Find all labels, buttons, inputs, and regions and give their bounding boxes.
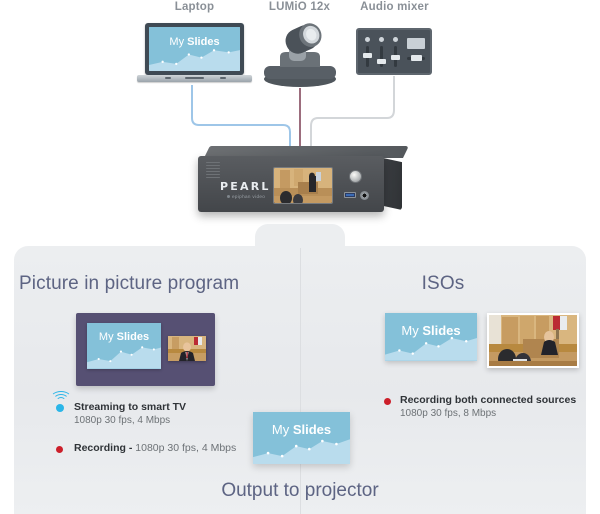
slides-chart: [253, 434, 350, 464]
recording-output-title: Recording - 1080p 30 fps, 4 Mbps: [74, 442, 236, 454]
pip-inset-camera: [168, 336, 206, 361]
streaming-output-row: Streaming to smart TV 1080p 30 fps, 4 Mb…: [52, 400, 282, 434]
pearl-side-surface: [383, 158, 402, 210]
pip-program-preview: My Slides: [76, 313, 215, 386]
laptop-lid: My Slides: [145, 23, 244, 75]
panel-divider: [300, 248, 301, 514]
recording-output-label: Recording -: [74, 442, 132, 454]
iso-recording-detail: 1080p 30 fps, 8 Mbps: [400, 408, 576, 419]
mixer-knob-3: [393, 37, 398, 42]
laptop-trackpad-notch: [185, 77, 204, 79]
slides-graphic-laptop: My Slides: [149, 27, 240, 71]
slides-title-bold: Slides: [187, 36, 219, 48]
pearl-sub-brand: epiphan video: [227, 194, 265, 199]
iso-source-slides: My Slides: [385, 313, 477, 361]
iso-recording-row: Recording both connected sources 1080p 3…: [384, 394, 584, 426]
pearl-encoder-device: PEARL epiphan video: [198, 146, 403, 226]
pearl-sub-brand-text: epiphan video: [232, 194, 265, 199]
slides-title-bold: Slides: [117, 331, 149, 343]
streaming-output-detail: 1080p 30 fps, 4 Mbps: [74, 415, 186, 426]
record-icon: [384, 398, 391, 405]
pearl-vent: [206, 162, 220, 180]
usb-port[interactable]: [344, 192, 356, 198]
slides-title-light: My: [272, 422, 293, 437]
picture-in-picture-title: Picture in picture program: [19, 273, 239, 295]
mixer-body: [356, 28, 432, 75]
slides-graphic-projector: My Slides: [253, 412, 350, 464]
slides-title-iso: My Slides: [385, 323, 477, 338]
camera-label: LUMiO 12x: [247, 1, 352, 13]
laptop-foot-left: [165, 77, 171, 79]
streaming-output-title: Streaming to smart TV: [74, 401, 186, 413]
slides-title-pip: My Slides: [87, 331, 161, 343]
audio-mixer-device: [356, 28, 432, 75]
slides-graphic-iso: My Slides: [385, 313, 477, 361]
mixer-display: [407, 38, 425, 49]
projector-output-slides: My Slides: [253, 412, 350, 464]
wifi-icon: [56, 404, 64, 412]
recording-output-detail: 1080p 30 fps, 4 Mbps: [132, 442, 236, 454]
power-button[interactable]: [349, 170, 362, 183]
mixer-hfader-cap: [411, 55, 422, 61]
pearl-front-panel: PEARL epiphan video: [198, 156, 384, 212]
slides-title-light: My: [401, 323, 422, 338]
iso-source-camera: [487, 313, 579, 368]
mixer-fader-cap-3: [391, 55, 400, 60]
ptz-camera-device: [262, 19, 338, 87]
iso-recording-title: Recording both connected sources: [400, 394, 576, 406]
slides-title-bold: Slides: [422, 323, 460, 338]
mixer-knob-1: [365, 37, 370, 42]
slides-title-laptop: My Slides: [149, 36, 240, 48]
slides-title-bold: Slides: [293, 422, 331, 437]
slides-title-light: My: [169, 36, 187, 48]
diagram-canvas: Laptop LUMiO 12x Audio mixer: [0, 0, 600, 514]
audio-jack-port[interactable]: [360, 191, 369, 200]
laptop-device: My Slides: [137, 23, 252, 85]
pearl-screen-content: [274, 168, 332, 203]
mixer-fader-cap-1: [363, 53, 372, 58]
mixer-label: Audio mixer: [342, 1, 447, 13]
pip-main-slides: My Slides: [87, 323, 161, 369]
pearl-preview-screen: [273, 167, 333, 204]
mixer-knob-2: [379, 37, 384, 42]
slides-chart: [87, 341, 161, 369]
laptop-foot-right: [220, 77, 226, 79]
projector-output-title: Output to projector: [0, 480, 600, 502]
mixer-fader-cap-2: [377, 59, 386, 64]
pearl-brand-logo: PEARL: [220, 180, 271, 193]
isos-title: ISOs: [370, 273, 516, 295]
slides-title-light: My: [99, 331, 117, 343]
laptop-screen: My Slides: [149, 27, 240, 71]
record-icon: [56, 446, 63, 453]
laptop-label: Laptop: [142, 1, 247, 13]
slides-graphic-pip: My Slides: [87, 323, 161, 369]
slides-title-projector: My Slides: [253, 422, 350, 437]
